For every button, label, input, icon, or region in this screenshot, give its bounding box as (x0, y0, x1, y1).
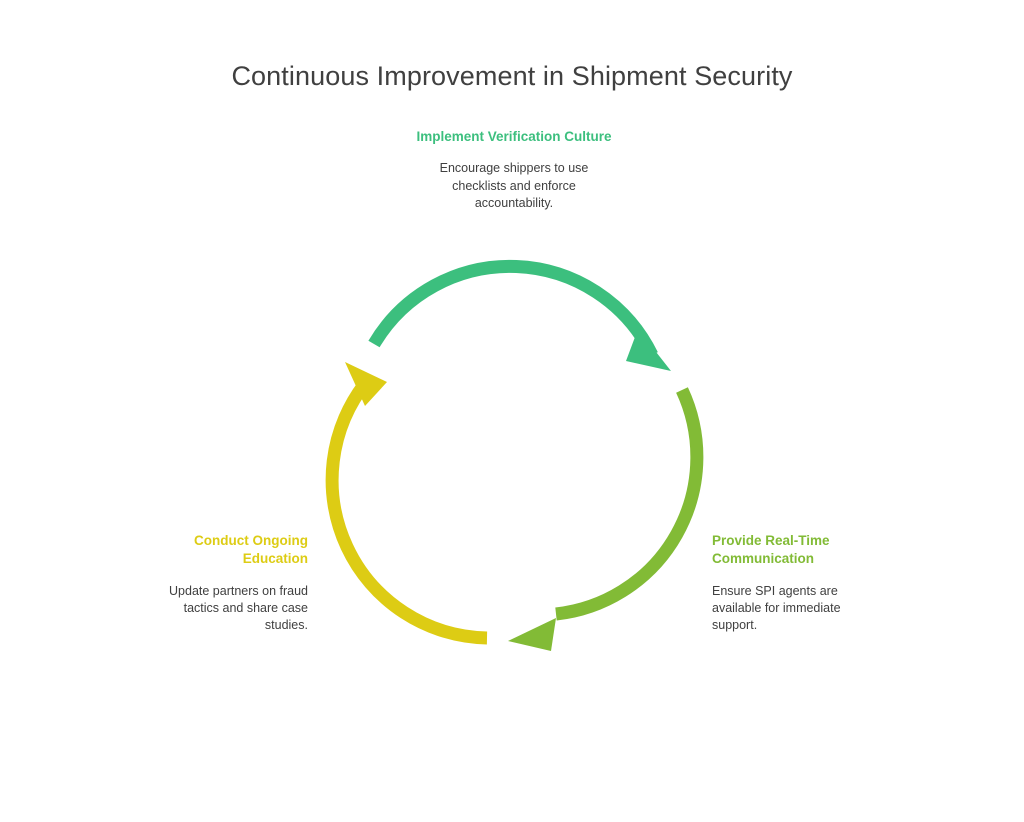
diagram-canvas: Continuous Improvement in Shipment Secur… (0, 0, 1024, 822)
green-yellow-arc-arrow (508, 390, 697, 651)
cycle-node-right: Provide Real-Time Communication Ensure S… (712, 532, 887, 634)
yellow-arc-path (332, 381, 487, 638)
cycle-arrows-svg (0, 0, 1024, 822)
cycle-diagram (0, 0, 1024, 822)
cycle-node-left-description: Update partners on fraud tactics and sha… (148, 583, 308, 635)
cycle-node-top: Implement Verification Culture Encourage… (412, 128, 616, 212)
green-arc-path (374, 266, 652, 355)
green-arc-arrow (374, 266, 671, 371)
yellow-arc-arrow (332, 362, 487, 638)
green-yellow-arrowhead-triangle (508, 618, 556, 651)
cycle-node-right-description: Ensure SPI agents are available for imme… (712, 583, 887, 635)
green-yellow-arc-path (556, 390, 697, 614)
cycle-node-left: Conduct Ongoing Education Update partner… (148, 532, 308, 634)
cycle-node-right-title: Provide Real-Time Communication (712, 532, 887, 569)
cycle-node-left-title: Conduct Ongoing Education (148, 532, 308, 569)
cycle-node-top-description: Encourage shippers to use checklists and… (412, 160, 616, 212)
cycle-node-top-title: Implement Verification Culture (412, 128, 616, 146)
